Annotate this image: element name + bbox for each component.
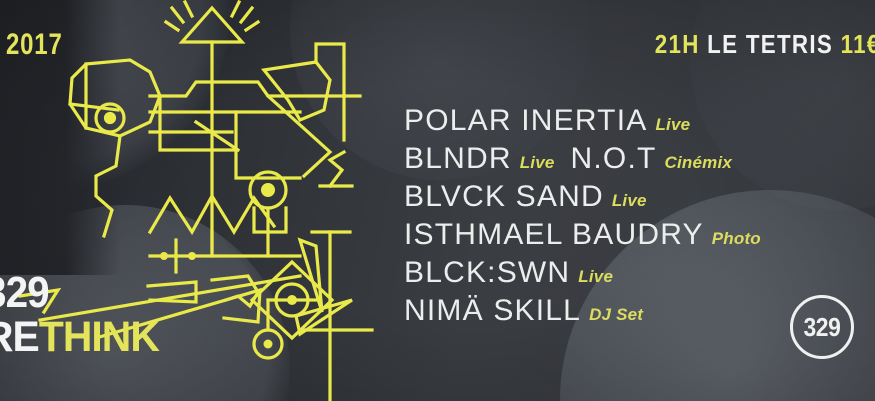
brand-number: 329 [0, 272, 153, 314]
ticket-price: 11€ [841, 29, 875, 59]
badge-label: 329 [804, 312, 841, 343]
artist-tag: DJ Set [589, 305, 643, 324]
brand-logo: 329 RETHINK [0, 272, 168, 359]
brand-wordmark-suffix: THINK [39, 313, 159, 361]
artist-name: BLVCK SAND [404, 180, 604, 213]
artist-name: BLCK:SWN [404, 256, 570, 289]
list-item: POLAR INERTIALive [404, 106, 874, 136]
brand-wordmark: RETHINK [0, 316, 159, 359]
start-time: 21H [655, 29, 700, 59]
artist-tag: Live [612, 191, 647, 210]
artist-name: N.O.T [571, 142, 657, 175]
brand-wordmark-prefix: RE [0, 313, 39, 361]
artist-tag: Live [655, 115, 690, 134]
artist-tag: Live [520, 153, 555, 172]
artist-tag: Cinémix [665, 153, 733, 172]
event-poster: 2017 21H LE TETRIS 11€ POLAR INERTIALive… [0, 0, 875, 401]
artist-tag: Photo [712, 229, 761, 248]
venue-name: LE TETRIS [708, 29, 834, 59]
list-item: BLVCK SANDLive [404, 182, 874, 212]
list-item: ISTHMAEL BAUDRYPhoto [404, 220, 874, 250]
artist-name: POLAR INERTIA [404, 104, 647, 137]
circular-badge-329: 329 [790, 295, 854, 359]
list-item: BLNDRLiveN.O.TCinémix [404, 144, 874, 174]
artist-name: NIMÄ SKILL [404, 294, 581, 327]
artist-name: ISTHMAEL BAUDRY [404, 218, 704, 251]
header-info: 21H LE TETRIS 11€ [655, 29, 875, 60]
artist-name: BLNDR [404, 142, 512, 175]
list-item: BLCK:SWNLive [404, 258, 874, 288]
year-label: 2017 [6, 28, 63, 62]
artist-tag: Live [578, 267, 613, 286]
